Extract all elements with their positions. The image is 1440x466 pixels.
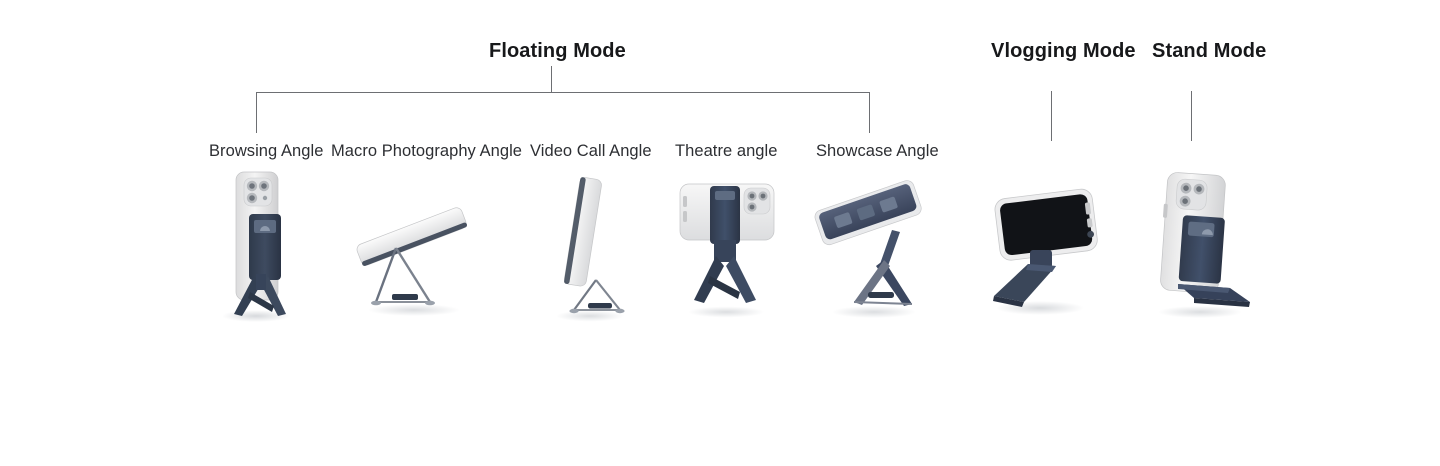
connector-stand xyxy=(1191,91,1192,141)
vlogging-figure xyxy=(978,180,1110,320)
diagram-canvas: Floating Mode Vlogging Mode Stand Mode B… xyxy=(0,0,1440,466)
mode-title-floating: Floating Mode xyxy=(489,41,626,61)
angle-label-browsing: Browsing Angle xyxy=(209,143,323,160)
bracket-leg-showcase xyxy=(869,92,870,133)
angle-label-videocall: Video Call Angle xyxy=(530,143,652,160)
mode-title-stand: Stand Mode xyxy=(1152,41,1266,61)
macro-figure xyxy=(338,186,483,318)
angle-label-theatre: Theatre angle xyxy=(675,143,777,160)
bracket-rail-floating xyxy=(256,92,870,93)
connector-vlogging xyxy=(1051,91,1052,141)
bracket-leg-browsing xyxy=(256,92,257,133)
stand-figure xyxy=(1138,166,1264,322)
showcase-figure xyxy=(808,172,940,320)
mode-title-vlogging: Vlogging Mode xyxy=(991,41,1136,61)
browsing-figure xyxy=(198,168,318,323)
theatre-figure xyxy=(668,172,786,320)
videocall-figure xyxy=(534,172,644,324)
bracket-stem-floating xyxy=(551,66,552,92)
angle-label-macro: Macro Photography Angle xyxy=(331,143,522,160)
angle-label-showcase: Showcase Angle xyxy=(816,143,939,160)
